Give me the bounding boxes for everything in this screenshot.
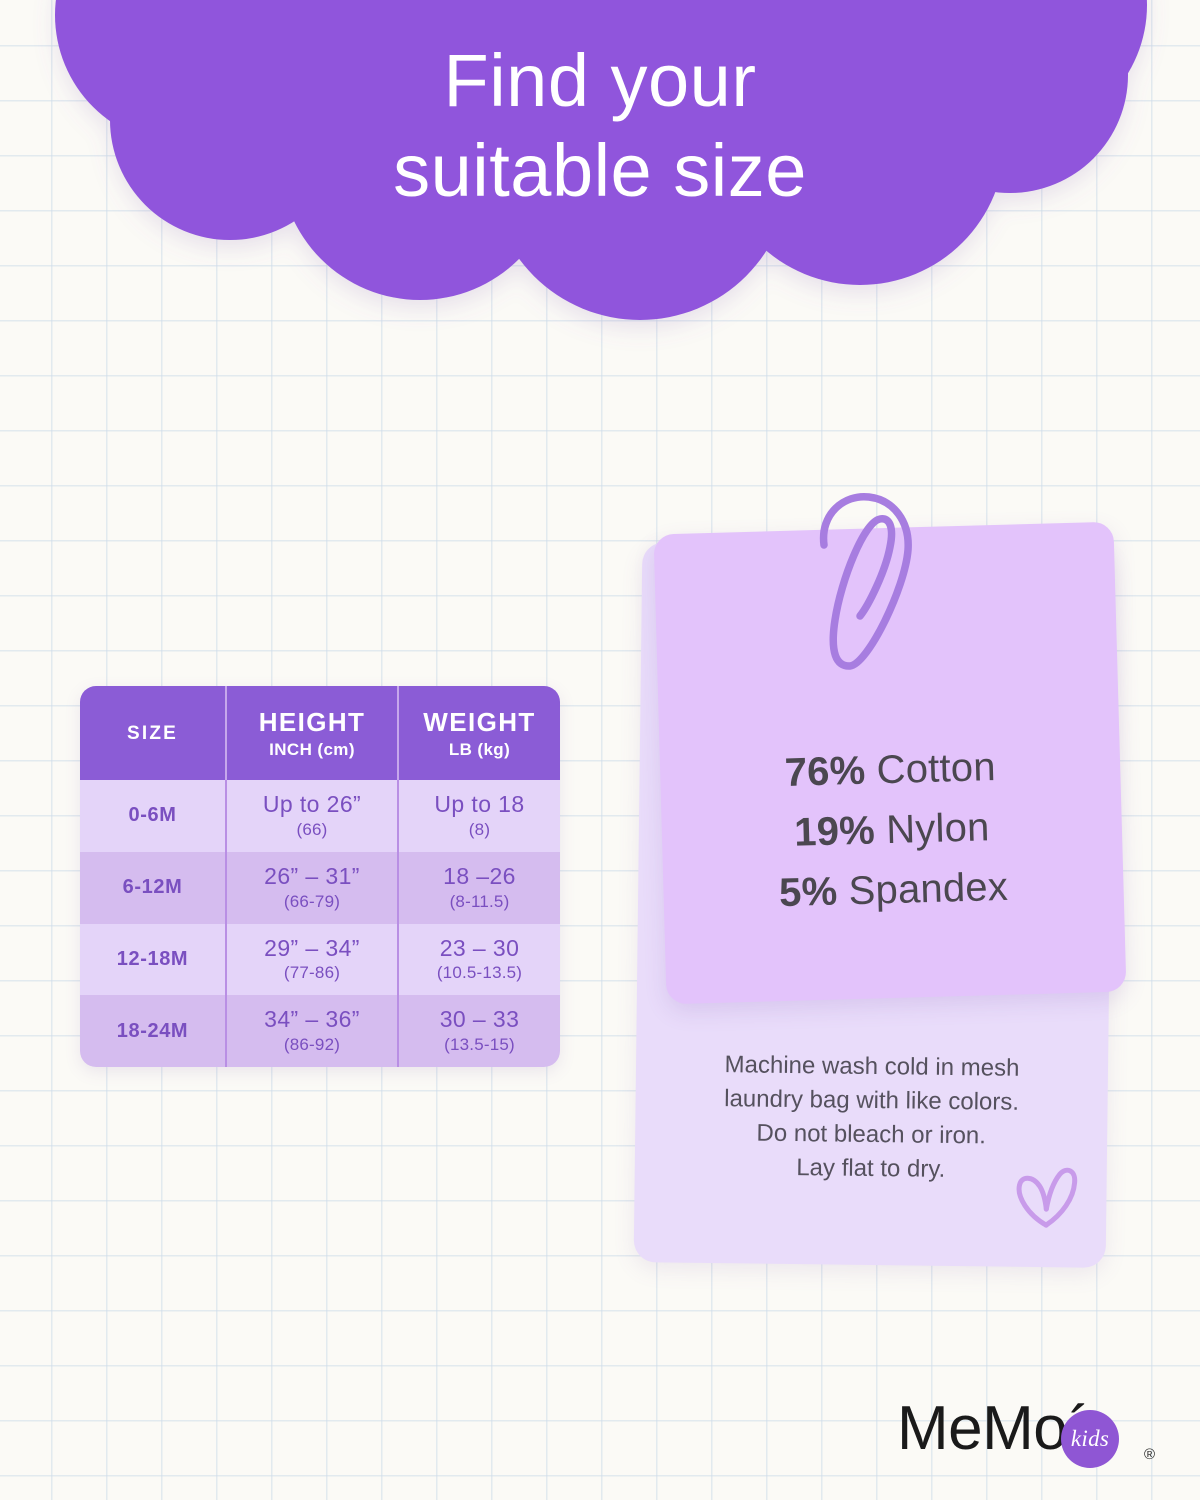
cell-weight-kg: (13.5-15)	[444, 1035, 515, 1055]
cell-height: 26” – 31” (66-79)	[225, 852, 397, 924]
cell-size-value: 12-18M	[117, 948, 188, 971]
composition-fiber-nylon: Nylon	[886, 805, 990, 852]
cell-height-cm: (66)	[296, 820, 327, 840]
cell-weight-lb: 30 – 33	[440, 1007, 520, 1033]
cell-weight: Up to 18 (8)	[397, 780, 560, 852]
composition-pct-nylon: 19%	[794, 808, 876, 854]
cell-height: 29” – 34” (77-86)	[225, 924, 397, 996]
brand-wordmark: MeMoí	[897, 1398, 1084, 1460]
cell-height: 34” – 36” (86-92)	[225, 995, 397, 1067]
composition-fiber-spandex: Spandex	[848, 865, 1008, 913]
table-row: 0-6M Up to 26” (66) Up to 18 (8)	[80, 780, 560, 852]
page-title: Find your suitable size	[0, 36, 1200, 215]
cell-height-cm: (77-86)	[284, 963, 340, 983]
composition-line-spandex: 5% Spandex	[663, 854, 1124, 927]
care-line-1: Machine wash cold in mesh	[652, 1047, 1092, 1086]
cell-weight-lb: Up to 18	[434, 792, 524, 818]
registered-trademark-symbol: ®	[1144, 1446, 1155, 1463]
table-row: 12-18M 29” – 34” (77-86) 23 – 30 (10.5-1…	[80, 924, 560, 996]
cell-size-value: 6-12M	[123, 876, 183, 899]
column-header-height-unit: INCH (cm)	[269, 740, 355, 760]
paperclip-icon	[806, 488, 924, 676]
cell-weight-kg: (8-11.5)	[450, 892, 510, 912]
cell-weight-lb: 18 –26	[443, 864, 516, 890]
cell-size: 0-6M	[80, 780, 225, 852]
table-row: 6-12M 26” – 31” (66-79) 18 –26 (8-11.5)	[80, 852, 560, 924]
cell-size-value: 0-6M	[129, 804, 177, 827]
cell-weight-kg: (10.5-13.5)	[437, 963, 522, 983]
cell-size: 12-18M	[80, 924, 225, 996]
cell-weight: 18 –26 (8-11.5)	[397, 852, 560, 924]
table-header-row: SIZE HEIGHT INCH (cm) WEIGHT LB (kg)	[80, 686, 560, 780]
care-line-2: laundry bag with like colors.	[651, 1081, 1091, 1120]
heart-icon	[1006, 1157, 1083, 1234]
size-chart-table: SIZE HEIGHT INCH (cm) WEIGHT LB (kg) 0-6…	[80, 686, 560, 1067]
column-header-weight-label: WEIGHT	[423, 708, 535, 737]
composition-pct-spandex: 5%	[779, 870, 838, 916]
column-header-size-label: SIZE	[127, 724, 178, 745]
cell-size-value: 18-24M	[117, 1020, 188, 1043]
cell-size: 18-24M	[80, 995, 225, 1067]
cell-height-inch: Up to 26”	[263, 792, 361, 818]
table-row: 18-24M 34” – 36” (86-92) 30 – 33 (13.5-1…	[80, 995, 560, 1067]
composition-fiber-cotton: Cotton	[876, 745, 996, 792]
table-body: 0-6M Up to 26” (66) Up to 18 (8) 6-12M 2…	[80, 780, 560, 1067]
column-header-size: SIZE	[80, 686, 225, 780]
cell-weight-lb: 23 – 30	[440, 936, 520, 962]
brand-logo: MeMoí kids ®	[897, 1388, 1152, 1470]
cell-weight: 30 – 33 (13.5-15)	[397, 995, 560, 1067]
care-line-3: Do not bleach or iron.	[651, 1115, 1091, 1154]
page-title-line-2: suitable size	[0, 126, 1200, 216]
cell-height-inch: 29” – 34”	[264, 936, 360, 962]
cell-height: Up to 26” (66)	[225, 780, 397, 852]
column-header-weight: WEIGHT LB (kg)	[397, 686, 560, 780]
column-header-height: HEIGHT INCH (cm)	[225, 686, 397, 780]
kids-badge-label: kids	[1071, 1426, 1109, 1452]
fabric-composition-text: 76% Cotton 19% Nylon 5% Spandex	[659, 734, 1124, 927]
page-title-line-1: Find your	[0, 36, 1200, 126]
column-header-height-label: HEIGHT	[259, 708, 366, 737]
cell-height-inch: 34” – 36”	[264, 1007, 360, 1033]
cell-size: 6-12M	[80, 852, 225, 924]
composition-pct-cotton: 76%	[784, 749, 866, 795]
column-header-weight-unit: LB (kg)	[449, 740, 510, 760]
cell-weight: 23 – 30 (10.5-13.5)	[397, 924, 560, 996]
cell-height-cm: (66-79)	[284, 892, 340, 912]
kids-badge: kids	[1061, 1410, 1119, 1468]
cell-weight-kg: (8)	[469, 820, 490, 840]
cell-height-cm: (86-92)	[284, 1035, 340, 1055]
cell-height-inch: 26” – 31”	[264, 864, 360, 890]
